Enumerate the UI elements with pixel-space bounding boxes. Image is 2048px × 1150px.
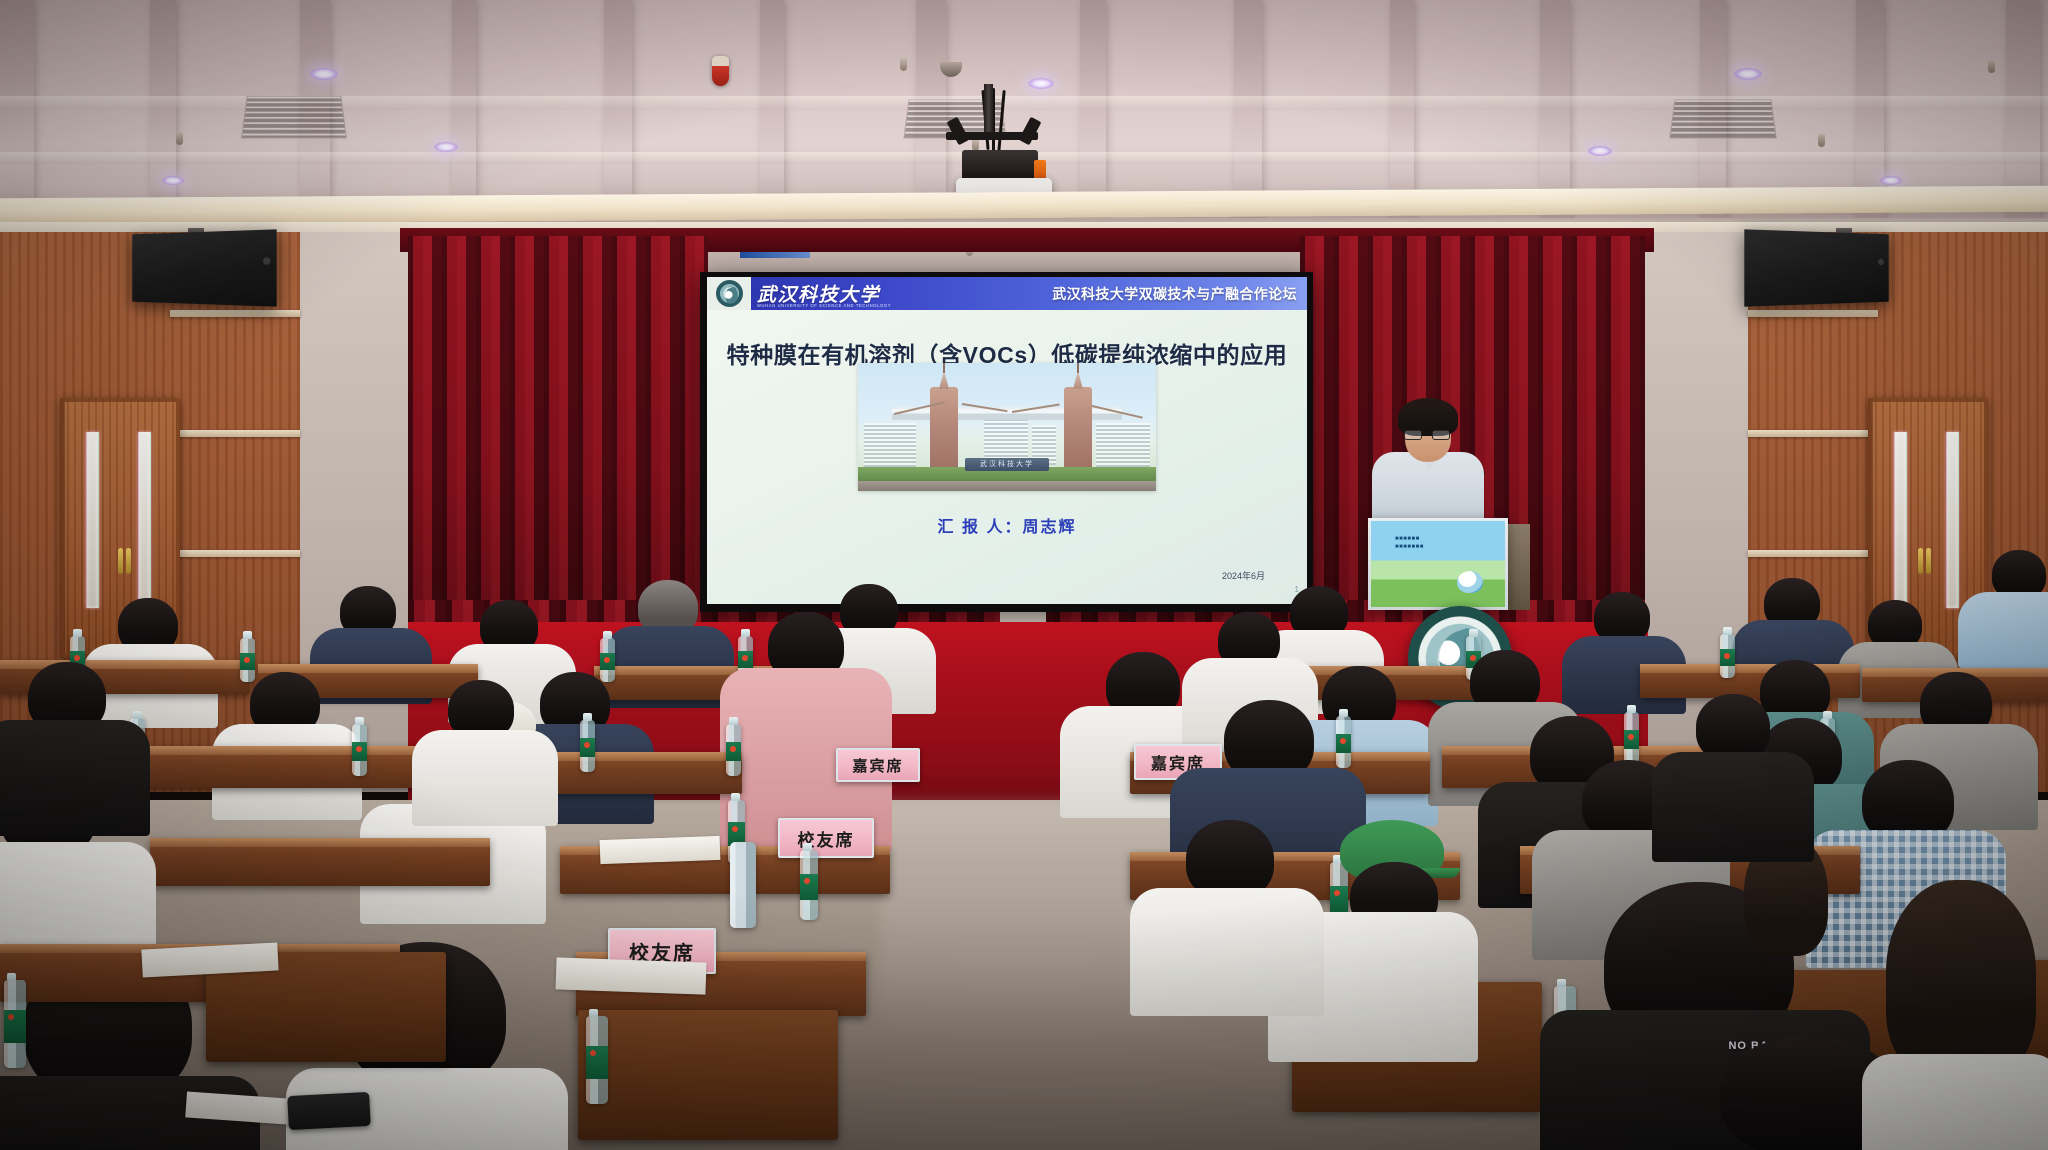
water-bottle	[1720, 634, 1735, 678]
thermos-bottle	[730, 842, 756, 928]
ceiling-downlight	[1028, 78, 1054, 89]
smartphone[interactable]	[287, 1092, 371, 1130]
water-bottle	[240, 638, 255, 682]
audience-torso	[1130, 888, 1324, 1016]
ac-vent-right	[1669, 100, 1777, 139]
audience-torso	[1862, 1054, 2048, 1150]
water-bottle	[4, 980, 26, 1068]
campus-gate-photo: 武汉科技大学	[858, 363, 1156, 491]
gate-tower-right	[1064, 387, 1092, 473]
water-bottle	[800, 850, 818, 920]
wall-indicator-strip	[740, 252, 810, 258]
ceiling-downlight	[310, 68, 338, 80]
sprinkler-icon	[1988, 60, 1995, 73]
slide-header: 武汉科技大学 WUHAN UNIVERSITY OF SCIENCE AND T…	[707, 277, 1307, 310]
sprinkler-icon	[900, 58, 907, 71]
gate-sign: 武汉科技大学	[965, 458, 1049, 471]
water-bottle	[600, 638, 615, 682]
university-seal-icon	[707, 277, 751, 310]
sprinkler-icon	[1818, 134, 1825, 147]
table-placard: 校友席	[778, 818, 874, 858]
audience-torso	[1652, 752, 1814, 862]
glasses-icon	[1404, 430, 1452, 440]
loudspeaker-icon	[132, 229, 276, 306]
water-bottle	[1624, 712, 1639, 764]
ceiling-downlight	[1588, 146, 1612, 156]
chair-back	[578, 1010, 838, 1140]
table-placard: 嘉宾席	[836, 748, 920, 782]
audience-torso	[412, 730, 558, 826]
ceiling-downlight	[1880, 176, 1902, 185]
conference-hall-photo: 武汉科技大学 WUHAN UNIVERSITY OF SCIENCE AND T…	[0, 0, 2048, 1150]
door-handle-icon[interactable]	[1918, 548, 1923, 574]
water-bottle	[580, 720, 595, 772]
podium-banner: ■■■■■■■■■■■■■	[1371, 521, 1505, 607]
sprinkler-icon	[176, 132, 183, 145]
water-bottle	[726, 724, 741, 776]
door-handle-icon[interactable]	[118, 548, 123, 574]
forum-title: 武汉科技大学双碳技术与产融合作论坛	[1052, 284, 1297, 304]
ceiling-downlight	[1734, 68, 1762, 80]
audience-desk	[150, 838, 490, 886]
slide-content: 武汉科技大学 WUHAN UNIVERSITY OF SCIENCE AND T…	[707, 277, 1307, 604]
ac-vent-left	[241, 96, 347, 139]
gate-road	[858, 481, 1156, 491]
projection-screen: 武汉科技大学 WUHAN UNIVERSITY OF SCIENCE AND T…	[700, 272, 1313, 612]
water-bottle	[586, 1016, 608, 1104]
gate-tower-left	[930, 387, 958, 473]
presenter-label: 汇 报 人：周志辉	[707, 513, 1307, 537]
podium: ■■■■■■■■■■■■■	[1368, 518, 1508, 610]
ceiling-downlight	[434, 142, 458, 152]
ceiling-downlight	[162, 176, 184, 185]
podium-side-panel	[1508, 524, 1530, 610]
slide-date: 2024年6月	[1222, 569, 1265, 582]
audience-torso	[1958, 592, 2048, 668]
door-handle-icon[interactable]	[126, 548, 131, 574]
audience-head-foreground	[1886, 880, 2036, 1080]
door-handle-icon[interactable]	[1926, 548, 1931, 574]
desk-paper	[555, 957, 706, 994]
university-name-en: WUHAN UNIVERSITY OF SCIENCE AND TECHNOLO…	[757, 303, 891, 308]
water-bottle	[352, 724, 367, 776]
loudspeaker-icon	[1744, 229, 1888, 306]
desk-paper	[600, 836, 721, 864]
audience-torso	[0, 720, 150, 836]
fire-alarm-icon	[712, 56, 729, 86]
audience-desk	[140, 746, 440, 788]
podium-banner-text: ■■■■■■■■■■■■■	[1395, 535, 1424, 551]
water-bottle	[1336, 716, 1351, 768]
